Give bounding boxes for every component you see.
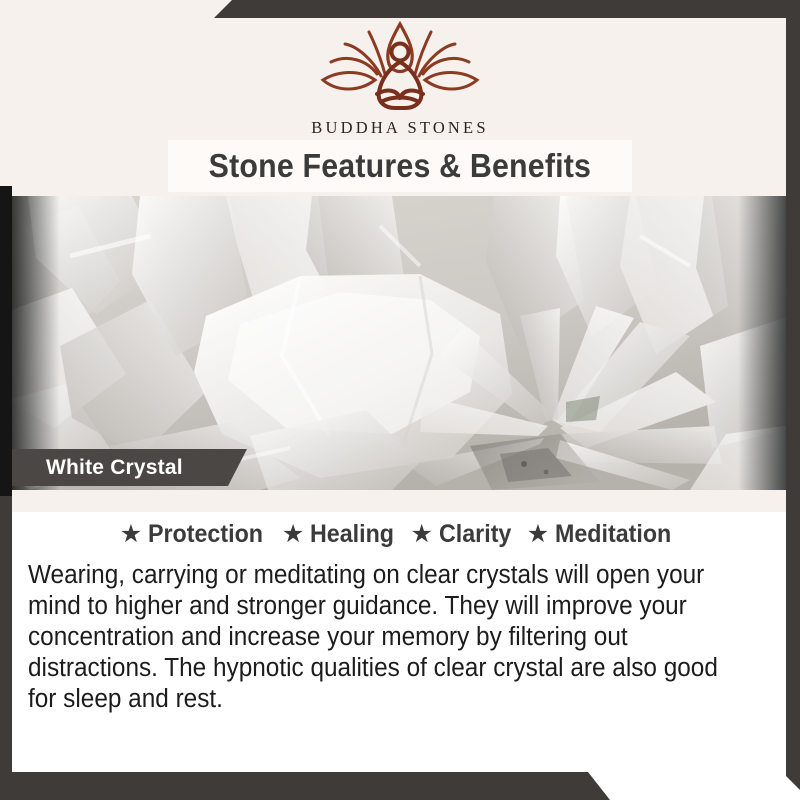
star-icon: ★ <box>527 522 549 547</box>
benefit-label: Healing <box>310 520 394 549</box>
stone-name-tag: White Crystal <box>12 449 247 486</box>
brand-logo: BUDDHA STONES <box>0 18 800 138</box>
left-edge-decoration-lower <box>0 496 12 786</box>
benefit-item: ★ Protection <box>120 520 272 549</box>
star-icon: ★ <box>120 522 142 547</box>
benefit-item: ★ Meditation <box>527 520 680 549</box>
left-edge-decoration-upper <box>0 186 12 496</box>
lotus-meditation-figure-icon <box>311 18 489 114</box>
right-edge-decoration <box>786 0 800 790</box>
star-icon: ★ <box>411 522 433 547</box>
benefit-item: ★ Healing <box>282 520 401 549</box>
benefit-label: Meditation <box>555 520 671 549</box>
content-area: ★ Protection ★ Healing ★ Clarity ★ Medit… <box>0 490 800 800</box>
benefit-item: ★ Clarity <box>411 520 517 549</box>
benefit-label: Clarity <box>439 520 511 549</box>
benefits-row: ★ Protection ★ Healing ★ Clarity ★ Medit… <box>0 512 800 549</box>
star-icon: ★ <box>282 522 304 547</box>
white-crystal-photo: White Crystal <box>0 196 800 490</box>
stone-name-label: White Crystal <box>46 456 183 480</box>
page-title: Stone Features & Benefits <box>209 147 592 185</box>
description-text: Wearing, carrying or meditating on clear… <box>28 560 723 715</box>
benefit-label: Protection <box>148 520 263 549</box>
title-banner: Stone Features & Benefits <box>168 140 632 192</box>
brand-name: BUDDHA STONES <box>0 118 800 138</box>
poster-root: White Crystal <box>0 0 800 800</box>
content-top-strip <box>0 490 800 512</box>
